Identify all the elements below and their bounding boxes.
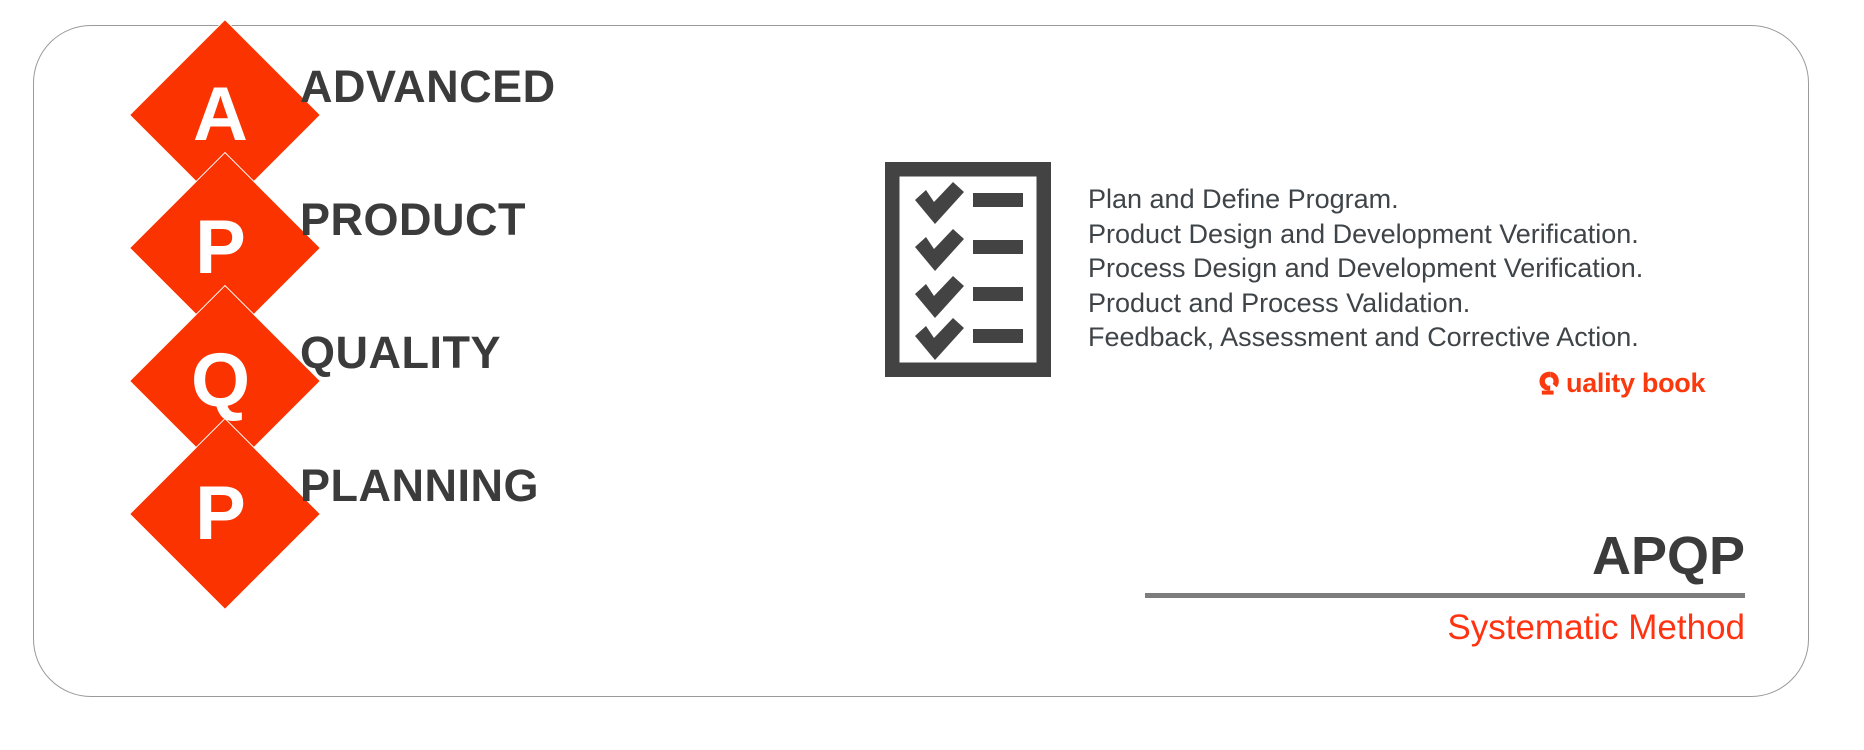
title-divider-rule	[1145, 593, 1745, 598]
diamond-shape-planning	[130, 419, 320, 609]
title-block: APQP Systematic Method	[1145, 525, 1745, 649]
stage-label-quality: QUALITY	[300, 326, 501, 380]
checklist-line-3: Process Design and Development Verificat…	[1088, 251, 1788, 286]
acronym-row-planning: P PLANNING	[125, 419, 455, 609]
acronym-diamond-stack: A ADVANCED P PRODUCT Q QUALITY P PLANNIN…	[125, 20, 455, 720]
quality-book-logo-text: uality book	[1566, 368, 1705, 398]
checklist-line-1: Plan and Define Program.	[1088, 182, 1788, 217]
checklist-line-2: Product Design and Development Verificat…	[1088, 217, 1788, 252]
checklist-text-block: Plan and Define Program. Product Design …	[1088, 182, 1788, 355]
checklist-line-5: Feedback, Assessment and Corrective Acti…	[1088, 320, 1788, 355]
stage-label-planning: PLANNING	[300, 459, 539, 513]
checklist-line-4: Product and Process Validation.	[1088, 286, 1788, 321]
stage-label-advanced: ADVANCED	[300, 60, 556, 114]
checklist-clipboard-icon	[885, 162, 1051, 377]
stage-label-product: PRODUCT	[300, 193, 526, 247]
apqp-infographic-canvas: A ADVANCED P PRODUCT Q QUALITY P PLANNIN…	[0, 0, 1864, 750]
quality-book-logo: uality book	[1535, 367, 1705, 399]
apqp-title: APQP	[1145, 525, 1745, 587]
apqp-subtitle: Systematic Method	[1145, 607, 1745, 649]
quality-book-q-mark-icon	[1535, 368, 1565, 398]
